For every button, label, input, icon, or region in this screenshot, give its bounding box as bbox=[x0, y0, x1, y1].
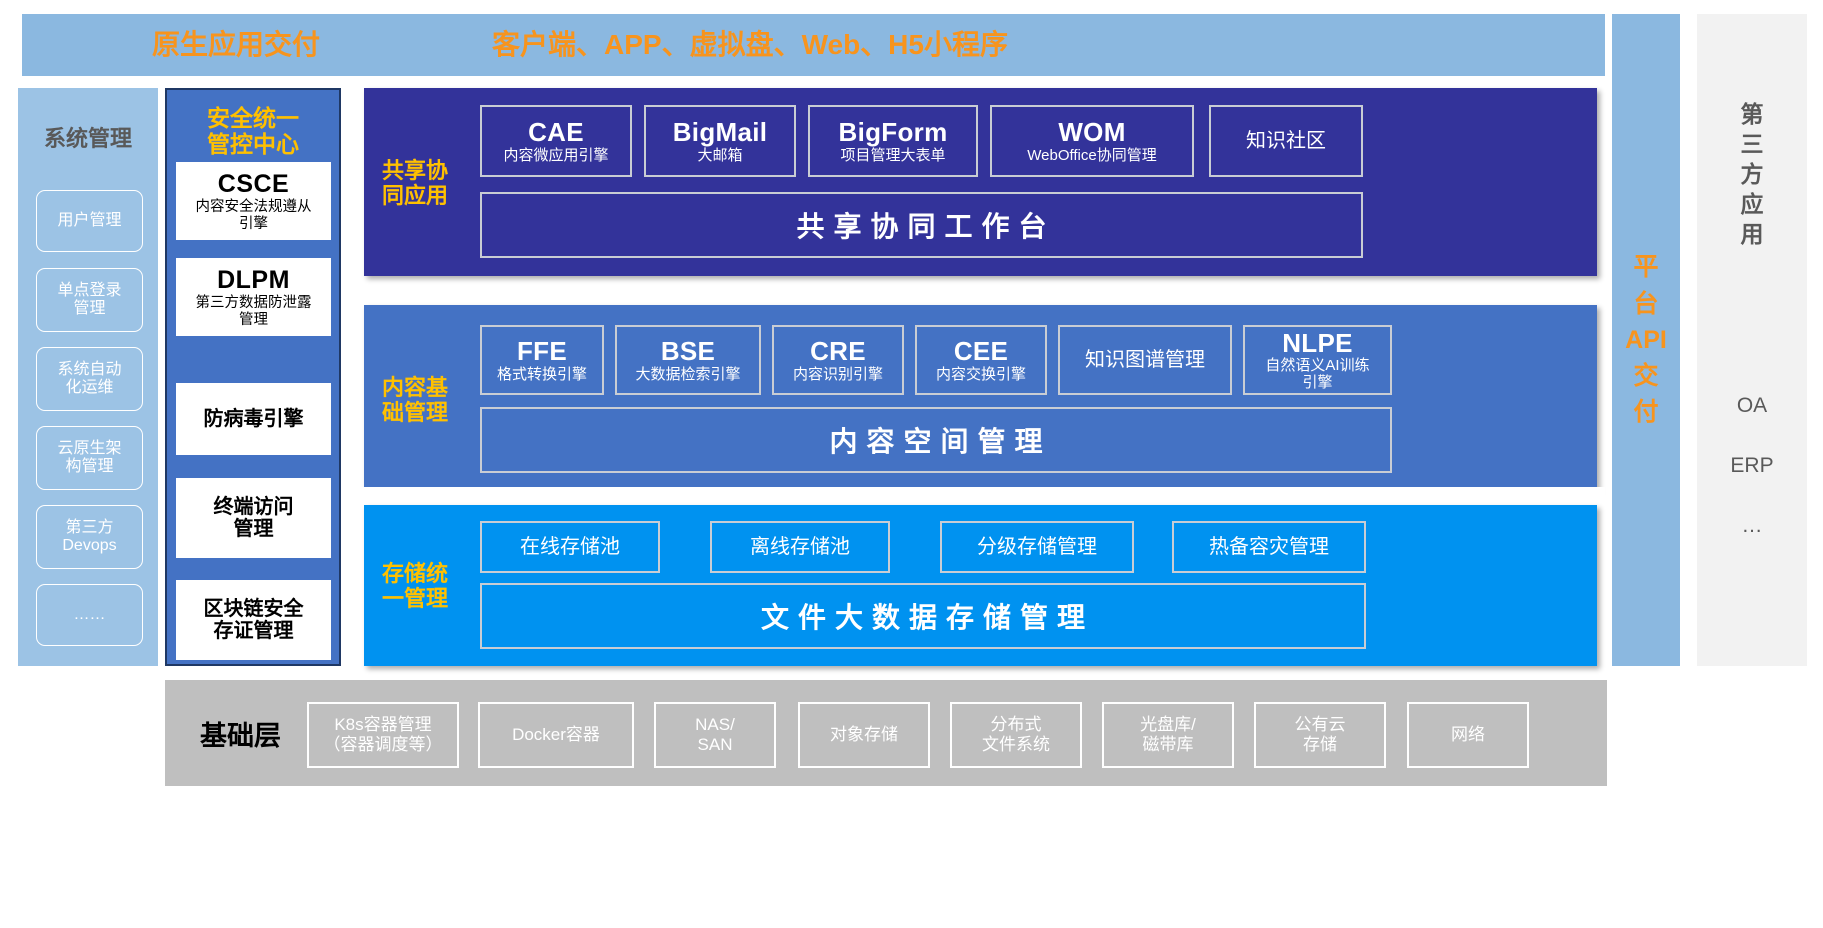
tile-code: FFE bbox=[517, 337, 567, 366]
tile-cre[interactable]: CRE 内容识别引擎 bbox=[772, 325, 904, 395]
base-item-nas-san[interactable]: NAS/SAN bbox=[654, 702, 776, 768]
base-item-network[interactable]: 网络 bbox=[1407, 702, 1529, 768]
security-item-code: DLPM bbox=[217, 266, 290, 294]
sysmgmt-item-user[interactable]: 用户管理 bbox=[36, 190, 143, 252]
tile-code: CAE bbox=[528, 118, 584, 147]
third-party-title-char: 第 bbox=[1697, 100, 1807, 130]
tile-desc: 格式转换引擎 bbox=[497, 367, 587, 384]
sysmgmt-item-devops[interactable]: 第三方Devops bbox=[36, 505, 143, 569]
base-item-k8s[interactable]: K8s容器管理（容器调度等） bbox=[307, 702, 459, 768]
sysmgmt-item-automation[interactable]: 系统自动化运维 bbox=[36, 347, 143, 411]
tile-code: BigMail bbox=[673, 118, 768, 147]
file-bigdata-storage-bar[interactable]: 文件大数据存储管理 bbox=[480, 583, 1366, 649]
tile-desc: 分级存储管理 bbox=[977, 536, 1097, 558]
content-space-management-bar[interactable]: 内容空间管理 bbox=[480, 407, 1392, 473]
tile-cee[interactable]: CEE 内容交换引擎 bbox=[915, 325, 1047, 395]
share-collaboration-label: 共享协同应用 bbox=[372, 140, 458, 226]
third-party-title-char: 用 bbox=[1697, 220, 1807, 250]
tile-hot-standby-dr[interactable]: 热备容灾管理 bbox=[1172, 521, 1366, 573]
tile-wom[interactable]: WOM WebOffice协同管理 bbox=[990, 105, 1194, 177]
tile-ffe[interactable]: FFE 格式转换引擎 bbox=[480, 325, 604, 395]
tile-desc: 知识社区 bbox=[1246, 130, 1326, 152]
security-item-blockchain[interactable]: 区块链安全存证管理 bbox=[176, 580, 331, 660]
tile-bigmail[interactable]: BigMail 大邮箱 bbox=[644, 105, 796, 177]
security-item-code: CSCE bbox=[218, 170, 289, 198]
tile-tiered-storage[interactable]: 分级存储管理 bbox=[940, 521, 1134, 573]
sysmgmt-item-label: …… bbox=[74, 606, 106, 624]
tile-knowledge-community[interactable]: 知识社区 bbox=[1209, 105, 1363, 177]
tile-knowledge-graph[interactable]: 知识图谱管理 bbox=[1058, 325, 1232, 395]
third-party-item-oa[interactable]: OA bbox=[1697, 394, 1807, 418]
sysmgmt-item-label: 用户管理 bbox=[57, 212, 121, 230]
tile-bigform[interactable]: BigForm 项目管理大表单 bbox=[808, 105, 978, 177]
tile-desc: 知识图谱管理 bbox=[1085, 349, 1205, 371]
share-collaboration-panel: 共享协同应用 CAE 内容微应用引擎 BigMail 大邮箱 BigForm 项… bbox=[364, 88, 1597, 276]
security-item-label: 防病毒引擎 bbox=[204, 408, 304, 430]
content-foundation-label: 内容基础管理 bbox=[372, 357, 458, 443]
base-item-optical-tape[interactable]: 光盘库/磁带库 bbox=[1102, 702, 1234, 768]
base-layer: 基础层 K8s容器管理（容器调度等） Docker容器 NAS/SAN 对象存储… bbox=[165, 680, 1607, 786]
tile-code: CEE bbox=[954, 337, 1008, 366]
base-layer-title: 基础层 bbox=[200, 680, 281, 786]
security-item-csce[interactable]: CSCE 内容安全法规遵从 引擎 bbox=[176, 162, 331, 240]
system-management-title: 系统管理 bbox=[18, 116, 158, 162]
third-party-title: 第 三 方 应 用 bbox=[1697, 100, 1807, 249]
base-item-object-storage[interactable]: 对象存储 bbox=[798, 702, 930, 768]
security-center-title: 安全统一管控中心 bbox=[167, 104, 339, 160]
share-collaboration-workbench-bar[interactable]: 共享协同工作台 bbox=[480, 192, 1363, 258]
tile-nlpe[interactable]: NLPE 自然语义AI训练 引擎 bbox=[1243, 325, 1392, 395]
sysmgmt-item-label: 云原生架 bbox=[57, 440, 121, 458]
tile-code: CRE bbox=[810, 337, 866, 366]
tile-offline-storage-pool[interactable]: 离线存储池 bbox=[710, 521, 890, 573]
third-party-title-char: 应 bbox=[1697, 190, 1807, 220]
tile-desc: WebOffice协同管理 bbox=[1027, 148, 1156, 165]
base-item-distributed-fs[interactable]: 分布式文件系统 bbox=[950, 702, 1082, 768]
top-banner-left-label: 原生应用交付 bbox=[152, 14, 320, 76]
third-party-item-erp[interactable]: ERP bbox=[1697, 454, 1807, 478]
sysmgmt-item-cloudnative[interactable]: 云原生架构管理 bbox=[36, 426, 143, 490]
third-party-column: 第 三 方 应 用 OA ERP … bbox=[1697, 14, 1807, 666]
tile-desc: 内容微应用引擎 bbox=[503, 148, 608, 165]
sysmgmt-item-label: 第三方 bbox=[65, 519, 113, 537]
sysmgmt-item-more[interactable]: …… bbox=[36, 584, 143, 646]
tile-code: WOM bbox=[1058, 118, 1125, 147]
third-party-item-more[interactable]: … bbox=[1697, 514, 1807, 538]
tile-desc: 项目管理大表单 bbox=[840, 148, 945, 165]
tile-desc: 在线存储池 bbox=[520, 536, 620, 558]
sysmgmt-item-label: 系统自动 bbox=[57, 361, 121, 379]
tile-desc: 离线存储池 bbox=[750, 536, 850, 558]
sysmgmt-item-sso[interactable]: 单点登录管理 bbox=[36, 268, 143, 332]
platform-api-char: 交 bbox=[1633, 358, 1658, 394]
platform-api-column: 平 台 API 交 付 bbox=[1612, 14, 1680, 666]
tile-cae[interactable]: CAE 内容微应用引擎 bbox=[480, 105, 632, 177]
tile-code: BigForm bbox=[839, 118, 948, 147]
tile-desc: 热备容灾管理 bbox=[1209, 536, 1329, 558]
tile-code: NLPE bbox=[1282, 329, 1353, 358]
top-banner-right-label: 客户端、APP、虚拟盘、Web、H5小程序 bbox=[492, 14, 1008, 76]
tile-online-storage-pool[interactable]: 在线存储池 bbox=[480, 521, 660, 573]
third-party-title-char: 三 bbox=[1697, 130, 1807, 160]
top-banner: 原生应用交付 客户端、APP、虚拟盘、Web、H5小程序 bbox=[22, 14, 1605, 76]
security-item-terminal-access[interactable]: 终端访问管理 bbox=[176, 478, 331, 558]
platform-api-char: 平 bbox=[1633, 249, 1658, 285]
security-item-dlpm[interactable]: DLPM 第三方数据防泄露 管理 bbox=[176, 258, 331, 336]
tile-desc: 大数据检索引擎 bbox=[635, 367, 740, 384]
base-item-public-cloud[interactable]: 公有云存储 bbox=[1254, 702, 1386, 768]
tile-bse[interactable]: BSE 大数据检索引擎 bbox=[615, 325, 761, 395]
security-center-column: 安全统一管控中心 CSCE 内容安全法规遵从 引擎 DLPM 第三方数据防泄露 … bbox=[165, 88, 341, 666]
base-item-docker[interactable]: Docker容器 bbox=[478, 702, 634, 768]
security-item-antivirus[interactable]: 防病毒引擎 bbox=[176, 383, 331, 455]
platform-api-char: API bbox=[1625, 322, 1667, 358]
platform-api-char: 付 bbox=[1633, 394, 1658, 430]
tile-desc: 大邮箱 bbox=[697, 148, 742, 165]
platform-api-char: 台 bbox=[1633, 286, 1658, 322]
storage-unified-panel: 存储统一管理 在线存储池 离线存储池 分级存储管理 热备容灾管理 文件大数据存储… bbox=[364, 505, 1597, 666]
tile-code: BSE bbox=[661, 337, 715, 366]
storage-unified-label: 存储统一管理 bbox=[372, 543, 458, 629]
third-party-title-char: 方 bbox=[1697, 160, 1807, 190]
tile-desc: 内容交换引擎 bbox=[936, 367, 1026, 384]
content-foundation-panel: 内容基础管理 FFE 格式转换引擎 BSE 大数据检索引擎 CRE 内容识别引擎… bbox=[364, 305, 1597, 493]
system-management-column: 系统管理 用户管理 单点登录管理 系统自动化运维 云原生架构管理 第三方Devo… bbox=[18, 88, 158, 666]
tile-desc: 内容识别引擎 bbox=[793, 367, 883, 384]
sysmgmt-item-label: 单点登录 bbox=[57, 282, 121, 300]
